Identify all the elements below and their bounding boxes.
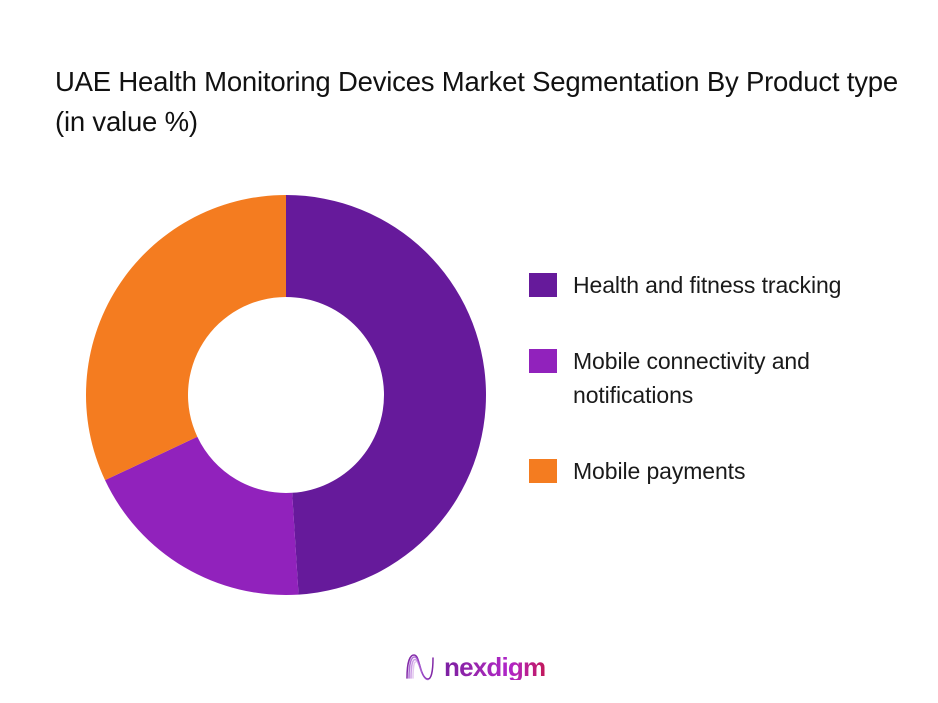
legend-swatch-icon	[529, 459, 557, 483]
legend-label: Mobile connectivity and notifications	[573, 344, 923, 412]
chart-legend: Health and fitness tracking Mobile conne…	[529, 268, 929, 488]
legend-item-mobile-connectivity-and-notifications[interactable]: Mobile connectivity and notifications	[529, 344, 929, 412]
brand-logo: nexdigm	[403, 652, 545, 682]
legend-swatch-icon	[529, 273, 557, 297]
legend-label: Mobile payments	[573, 454, 745, 488]
donut-chart	[80, 189, 492, 601]
legend-item-mobile-payments[interactable]: Mobile payments	[529, 454, 929, 488]
donut-slice[interactable]	[286, 195, 486, 595]
chart-card: UAE Health Monitoring Devices Market Seg…	[0, 0, 938, 703]
legend-item-health-and-fitness-tracking[interactable]: Health and fitness tracking	[529, 268, 929, 302]
donut-chart-svg	[80, 189, 492, 601]
nexdigm-swoosh-n-icon	[403, 652, 437, 682]
donut-slice-group	[86, 195, 486, 595]
donut-slice[interactable]	[86, 195, 286, 480]
chart-title: UAE Health Monitoring Devices Market Seg…	[55, 62, 915, 142]
legend-label: Health and fitness tracking	[573, 268, 841, 302]
brand-wordmark: nexdigm	[444, 654, 545, 680]
legend-swatch-icon	[529, 349, 557, 373]
